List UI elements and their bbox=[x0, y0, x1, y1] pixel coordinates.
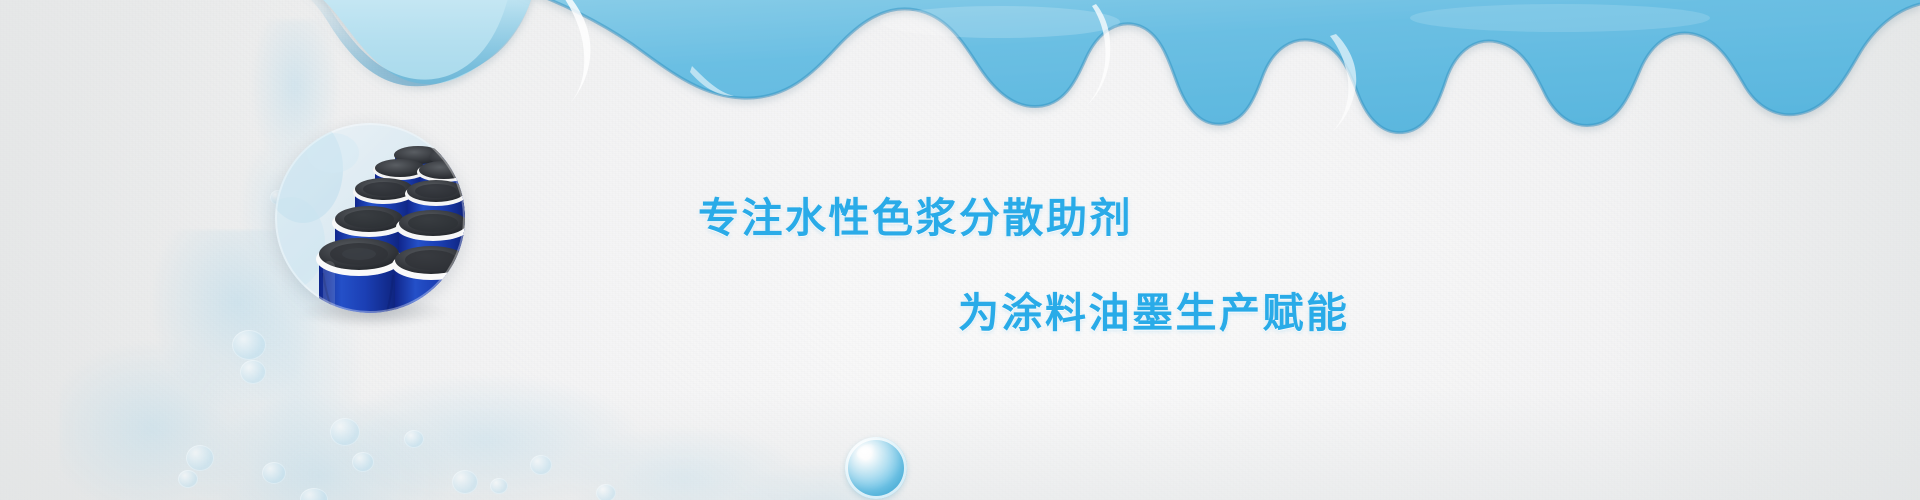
bubble-dot bbox=[452, 470, 478, 494]
bubble-dot bbox=[404, 430, 424, 448]
hero-banner: 专注水性色浆分散助剂 为涂料油墨生产赋能 bbox=[0, 0, 1920, 500]
bubble-dot bbox=[262, 462, 286, 484]
blue-chemical-drums-image bbox=[275, 123, 465, 313]
bubble-dot bbox=[240, 360, 266, 384]
bubble-dot bbox=[178, 470, 198, 488]
bubble-dot bbox=[596, 484, 616, 500]
decorative-bubble bbox=[845, 437, 907, 499]
bubble-dot bbox=[232, 330, 266, 360]
liquid-drip-decoration bbox=[0, 0, 1920, 150]
bubble-dot bbox=[490, 478, 508, 494]
bubble-dot bbox=[352, 452, 374, 472]
product-photo-circle bbox=[275, 123, 465, 313]
bubble-dot bbox=[186, 445, 214, 471]
bubble-dot bbox=[530, 455, 552, 475]
bubble-dot bbox=[330, 418, 360, 446]
